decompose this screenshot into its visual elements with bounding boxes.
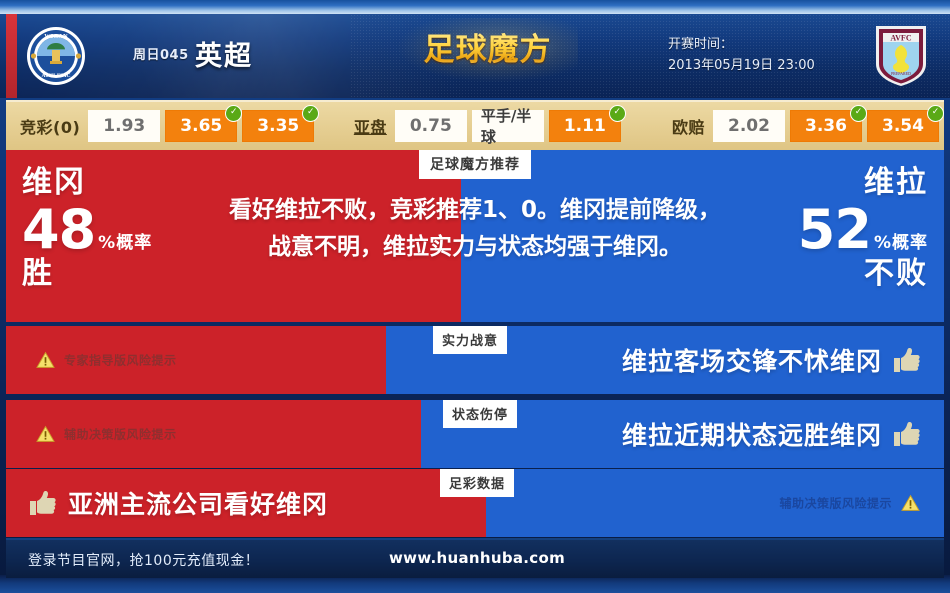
odds-cell-euro-3[interactable]: 3.54 ✓: [867, 110, 939, 142]
row-tag-betting-data: 足彩数据: [440, 469, 514, 497]
home-team-name: 维冈: [22, 166, 222, 200]
risk-note-right: 辅助决策版风险提示: [779, 495, 920, 512]
odds-cell-asian-2[interactable]: 1.11 ✓: [549, 110, 621, 142]
match-number: 周日045: [133, 44, 189, 63]
footer-promo-text: 登录节目官网，抢100元充值现金！: [28, 550, 259, 570]
info-row-betting-data: 足彩数据 亚洲主流公司看好维冈 辅助决策版风险提示: [6, 469, 944, 537]
league-name: 英超: [195, 34, 253, 73]
warning-icon: [36, 426, 55, 443]
risk-note-text: 辅助决策版风险提示: [64, 426, 177, 443]
check-icon: ✓: [850, 105, 867, 122]
odds-value: 3.54: [882, 116, 924, 136]
row-headline-text: 亚洲主流公司看好维冈: [68, 485, 328, 521]
home-probability-value: 48: [22, 204, 95, 256]
prediction-panel: 维冈 48 %概率 胜 维拉 52 %概率 不败 足球魔方推荐 看好维拉不败，竞…: [6, 150, 944, 322]
row-headline-betting-data: 亚洲主流公司看好维冈: [28, 485, 328, 521]
row-headline-text: 维拉客场交锋不怵维冈: [622, 342, 882, 378]
odds-group-jingcai: 竞彩(0) 1.93 3.65 ✓ 3.35 ✓: [6, 102, 319, 150]
odds-bar: 竞彩(0) 1.93 3.65 ✓ 3.35 ✓ 亚盘 0.75 平手/半球: [6, 100, 944, 150]
broadcast-graphic: WIGAN ATHLETIC AVFC PREPARED 周日045 英超 足球…: [0, 0, 950, 593]
check-icon: ✓: [927, 105, 944, 122]
risk-note-left: 专家指导版风险提示: [36, 352, 177, 369]
odds-cell-asian-1[interactable]: 0.75: [395, 110, 467, 142]
recommendation-text: 看好维拉不败，竞彩推荐1、0。维冈提前降级，战意不明，维拉实力与状态均强于维冈。: [228, 192, 722, 266]
svg-text:ATHLETIC: ATHLETIC: [41, 73, 70, 79]
odds-cell-jingcai-2[interactable]: 3.65 ✓: [165, 110, 237, 142]
odds-cell-asian-line[interactable]: 平手/半球: [472, 110, 544, 142]
odds-value: 2.02: [728, 116, 770, 136]
risk-note-left: 辅助决策版风险提示: [36, 426, 177, 443]
home-probability-block: 维冈 48 %概率 胜: [6, 150, 222, 322]
odds-group-label: 亚盘: [354, 114, 387, 138]
odds-value: 3.36: [805, 116, 847, 136]
odds-value: 1.11: [564, 116, 606, 136]
odds-group-label: 竞彩(0): [20, 114, 80, 138]
odds-group-asian-handicap: 亚盘 0.75 平手/半球 1.11 ✓: [340, 102, 626, 150]
row-headline-form: 维拉近期状态远胜维冈: [622, 416, 922, 452]
odds-value: 1.93: [103, 116, 145, 136]
home-outcome: 胜: [22, 258, 222, 290]
away-outcome: 不败: [728, 258, 928, 290]
svg-text:PREPARED: PREPARED: [891, 71, 911, 76]
away-probability-block: 维拉 52 %概率 不败: [728, 150, 944, 322]
odds-value: 3.65: [180, 116, 222, 136]
odds-cell-jingcai-3[interactable]: 3.35 ✓: [242, 110, 314, 142]
footer-bar: 登录节目官网，抢100元充值现金！ www.huanhuba.com: [6, 538, 944, 578]
kickoff-time: 2013年05月19日 23:00: [668, 55, 815, 76]
risk-note-text: 专家指导版风险提示: [64, 352, 177, 369]
info-row-strength: 实力战意 专家指导版风险提示 维拉客场交锋不怵维冈: [6, 326, 944, 394]
recommendation-tag: 足球魔方推荐: [419, 150, 531, 179]
odds-cell-euro-1[interactable]: 2.02: [713, 110, 785, 142]
odds-value: 平手/半球: [481, 105, 535, 147]
home-probability-suffix: %概率: [98, 228, 152, 253]
svg-text:WIGAN: WIGAN: [44, 33, 68, 40]
thumbs-up-icon: [28, 490, 58, 516]
home-team-logo-wigan-athletic: WIGAN ATHLETIC: [26, 26, 86, 86]
row-tag-strength: 实力战意: [433, 326, 507, 354]
check-icon: ✓: [225, 105, 242, 122]
row-headline-strength: 维拉客场交锋不怵维冈: [622, 342, 922, 378]
header-accent-strip: [6, 14, 17, 98]
odds-value: 0.75: [410, 116, 452, 136]
footer-website-url[interactable]: www.huanhuba.com: [389, 549, 565, 567]
warning-icon: [901, 495, 920, 512]
kickoff-info: 开赛时间： 2013年05月19日 23:00: [668, 34, 815, 76]
check-icon: ✓: [609, 105, 626, 122]
odds-value: 3.35: [257, 116, 299, 136]
odds-group-label: 欧赔: [672, 114, 705, 138]
brand-logo-text: 足球魔方: [415, 27, 560, 73]
thumbs-up-icon: [892, 421, 922, 447]
kickoff-label: 开赛时间：: [668, 34, 815, 55]
odds-cell-euro-2[interactable]: 3.36 ✓: [790, 110, 862, 142]
home-probability: 48 %概率: [22, 204, 222, 256]
row-headline-text: 维拉近期状态远胜维冈: [622, 416, 882, 452]
row-tag-form: 状态伤停: [443, 400, 517, 428]
warning-icon: [36, 352, 55, 369]
away-probability-suffix: %概率: [874, 228, 928, 253]
thumbs-up-icon: [892, 347, 922, 373]
odds-cell-jingcai-1[interactable]: 1.93: [88, 110, 160, 142]
risk-note-text: 辅助决策版风险提示: [779, 495, 892, 512]
check-icon: ✓: [302, 105, 319, 122]
odds-group-european: 欧赔 2.02 3.36 ✓ 3.54 ✓: [658, 102, 944, 150]
away-team-logo-aston-villa: AVFC PREPARED: [872, 22, 930, 88]
svg-text:AVFC: AVFC: [890, 34, 911, 43]
away-probability: 52 %概率: [728, 204, 928, 256]
away-probability-value: 52: [798, 204, 871, 256]
info-row-form: 状态伤停 辅助决策版风险提示 维拉近期状态远胜维冈: [6, 400, 944, 468]
away-team-name: 维拉: [728, 166, 928, 200]
